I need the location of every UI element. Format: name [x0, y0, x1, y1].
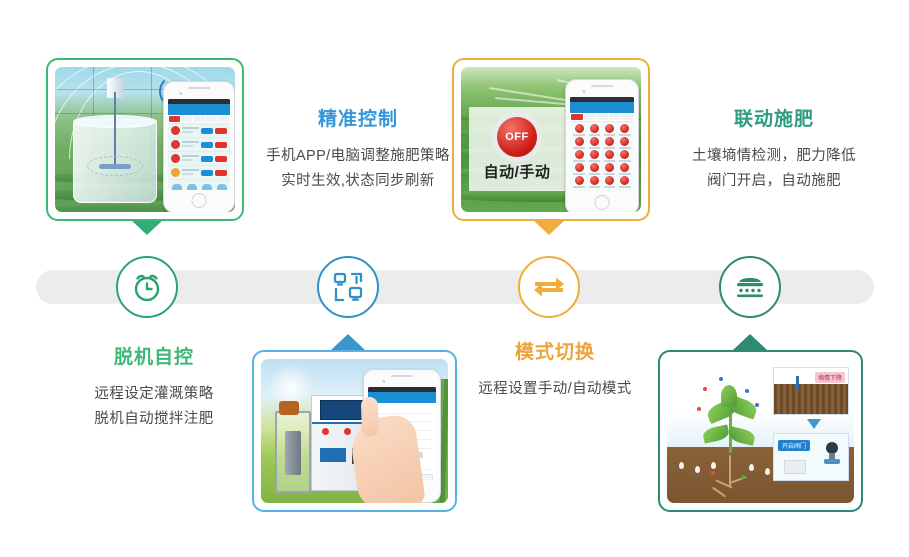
desc-precision-line2: 实时生效,状态同步刷新 — [258, 169, 458, 194]
weather-cell — [215, 184, 228, 190]
nutrient-dot — [755, 403, 759, 407]
valve-label — [182, 141, 199, 148]
valve-cell[interactable] — [603, 176, 617, 188]
valve-cell[interactable] — [618, 176, 632, 188]
valve-list-item — [168, 138, 230, 152]
valve-action-pill — [201, 156, 213, 162]
valve-list-item — [168, 166, 230, 180]
valve-cell[interactable] — [572, 124, 586, 136]
valve-action-pill — [215, 128, 227, 134]
text-offline: 脱机自控 远程设定灌溉策略 脱机自动搅拌注肥 — [48, 348, 260, 433]
desc-linked-line2: 阀门开启，自动施肥 — [662, 169, 886, 194]
text-linked: 联动施肥 土壤墒情检测，肥力降低 阀门开启，自动施肥 — [662, 110, 886, 195]
nutrient-dot — [741, 475, 745, 479]
phone-home-button — [192, 193, 207, 208]
card-mode-image: OFF 自动/手动 — [452, 58, 650, 221]
desc-offline-line2: 脱机自动搅拌注肥 — [48, 407, 260, 432]
phone-home-button — [595, 195, 610, 210]
weather-strip — [168, 180, 230, 190]
phone-speaker — [591, 85, 613, 87]
weather-cell — [185, 184, 198, 190]
valve-status-dot — [171, 140, 180, 149]
heading-precision: 精准控制 — [258, 110, 458, 131]
connector-arrow-offline — [130, 219, 164, 235]
tank-blade — [99, 164, 131, 169]
valve-list-item — [168, 152, 230, 166]
pump-motor — [279, 401, 299, 415]
valve-cell[interactable] — [572, 163, 586, 175]
alarm-clock-icon — [130, 270, 164, 304]
phone-screen — [570, 97, 634, 192]
nutrient-dot — [703, 387, 707, 391]
valve-cell[interactable] — [572, 176, 586, 188]
valve-device-icon — [824, 442, 840, 464]
timeline-node-mode-switch[interactable] — [518, 256, 580, 318]
weather-cell — [170, 184, 183, 190]
form-row[interactable] — [371, 406, 433, 414]
heading-mode: 模式切换 — [452, 343, 658, 364]
valve-cell[interactable] — [572, 137, 586, 149]
valve-cell[interactable] — [587, 163, 601, 175]
app-tab-bar — [570, 113, 634, 122]
tab-item — [181, 116, 192, 122]
off-button[interactable]: OFF — [497, 117, 537, 157]
phone-camera — [382, 380, 385, 383]
tab-item — [571, 114, 583, 120]
connector-arrow-mode — [532, 219, 566, 235]
valve-list-item — [168, 124, 230, 138]
valve-action-pill — [201, 142, 213, 148]
phone-mock-tea — [565, 79, 639, 212]
cabinet-knob[interactable] — [344, 428, 351, 435]
valve-action-pill — [215, 170, 227, 176]
card-precision-artwork — [261, 359, 448, 503]
valve-cell[interactable] — [587, 150, 601, 162]
valve-cell[interactable] — [603, 150, 617, 162]
connector-arrow-linked — [733, 334, 767, 350]
soil-cross-section — [774, 384, 848, 414]
water-arrow — [711, 462, 716, 469]
valve-action-pill — [215, 156, 227, 162]
phone-mock-greenhouse — [163, 81, 235, 212]
mixing-tank — [73, 119, 157, 203]
valve-cell[interactable] — [603, 137, 617, 149]
desc-linked-line1: 土壤墒情检测，肥力降低 — [662, 144, 886, 169]
tab-item — [609, 114, 621, 120]
infographic-canvas: ✕ — [0, 0, 909, 557]
network-devices-icon — [332, 271, 364, 303]
sprinkler-irrigation-icon — [734, 273, 766, 301]
nutrient-dot — [711, 471, 715, 475]
app-tab-bar — [168, 115, 230, 124]
valve-action-pill — [201, 128, 213, 134]
timeline-node-sprinkler[interactable] — [719, 256, 781, 318]
valve-cell[interactable] — [618, 163, 632, 175]
timeline-node-network-devices[interactable] — [317, 256, 379, 318]
valve-label — [182, 155, 199, 162]
nutrient-dot — [697, 407, 701, 411]
tab-item — [193, 116, 204, 122]
valve-cell[interactable] — [618, 124, 632, 136]
sensor-tag: 墒情下降 — [815, 372, 845, 383]
phone-screen — [168, 99, 230, 190]
valve-action-panel: 开启阀门 — [773, 433, 849, 481]
water-arrow — [765, 468, 770, 475]
soil-sensor-panel: 墒情下降 — [773, 367, 849, 415]
flow-arrow-down-icon — [807, 419, 821, 429]
card-linked-image: 墒情下降 开启阀门 — [658, 350, 863, 512]
tab-item — [596, 114, 608, 120]
heading-linked: 联动施肥 — [662, 110, 886, 131]
app-nav-bar — [570, 102, 634, 113]
valve-cell[interactable] — [603, 163, 617, 175]
card-linked-artwork: 墒情下降 开启阀门 — [667, 359, 854, 503]
nutrient-dot — [719, 377, 723, 381]
bidirectional-arrows-icon — [533, 274, 565, 300]
valve-status-dot — [171, 168, 180, 177]
desc-mode-line1: 远程设置手动/自动模式 — [452, 377, 658, 402]
card-offline-image: ✕ — [46, 58, 244, 221]
desc-offline-line1: 远程设定灌溉策略 — [48, 382, 260, 407]
pump-body — [285, 431, 301, 475]
mode-label: 自动/手动 — [484, 161, 551, 182]
valve-action-pill — [215, 142, 227, 148]
phone-camera — [179, 92, 182, 95]
cabinet-knob[interactable] — [322, 428, 329, 435]
timeline-node-alarm-clock[interactable] — [116, 256, 178, 318]
tab-item — [218, 116, 229, 122]
plant-leaf — [721, 385, 737, 407]
phone-speaker — [188, 87, 210, 89]
valve-tag: 开启阀门 — [778, 440, 810, 451]
water-arrow — [679, 462, 684, 469]
valve-cell[interactable] — [603, 124, 617, 136]
app-nav-bar — [168, 104, 230, 115]
valve-action-pill — [201, 170, 213, 176]
cabinet-panel-blue — [320, 448, 346, 462]
sensor-probe — [796, 376, 799, 390]
valve-cell[interactable] — [587, 124, 601, 136]
valve-label — [182, 127, 199, 134]
weather-cell — [200, 184, 213, 190]
card-mode-artwork: OFF 自动/手动 — [461, 67, 641, 212]
heading-offline: 脱机自控 — [48, 348, 260, 369]
valve-grid — [570, 122, 634, 190]
connector-arrow-precision — [331, 334, 365, 350]
valve-status-dot — [171, 154, 180, 163]
water-arrow — [749, 464, 754, 471]
text-precision: 精准控制 手机APP/电脑调整施肥策略 实时生效,状态同步刷新 — [258, 110, 458, 195]
card-precision-image — [252, 350, 457, 512]
phone-speaker — [391, 375, 413, 377]
tab-item — [206, 116, 217, 122]
tank-shaft — [114, 92, 116, 166]
text-mode: 模式切换 远程设置手动/自动模式 — [452, 343, 658, 402]
valve-cell[interactable] — [587, 176, 601, 188]
valve-cell[interactable] — [572, 150, 586, 162]
valve-cell[interactable] — [618, 150, 632, 162]
tab-item — [621, 114, 633, 120]
controller-box — [784, 460, 806, 474]
valve-label — [182, 169, 199, 176]
valve-status-dot — [171, 126, 180, 135]
phone-camera — [582, 90, 585, 93]
tab-item — [169, 116, 180, 122]
valve-cell[interactable] — [587, 137, 601, 149]
tab-item — [584, 114, 596, 120]
valve-cell[interactable] — [618, 137, 632, 149]
desc-precision-line1: 手机APP/电脑调整施肥策略 — [258, 144, 458, 169]
water-arrow — [695, 466, 700, 473]
nutrient-dot — [745, 389, 749, 393]
app-nav-bar — [368, 392, 436, 403]
card-offline-artwork: ✕ — [55, 67, 235, 212]
auto-manual-panel[interactable]: OFF 自动/手动 — [469, 107, 565, 191]
